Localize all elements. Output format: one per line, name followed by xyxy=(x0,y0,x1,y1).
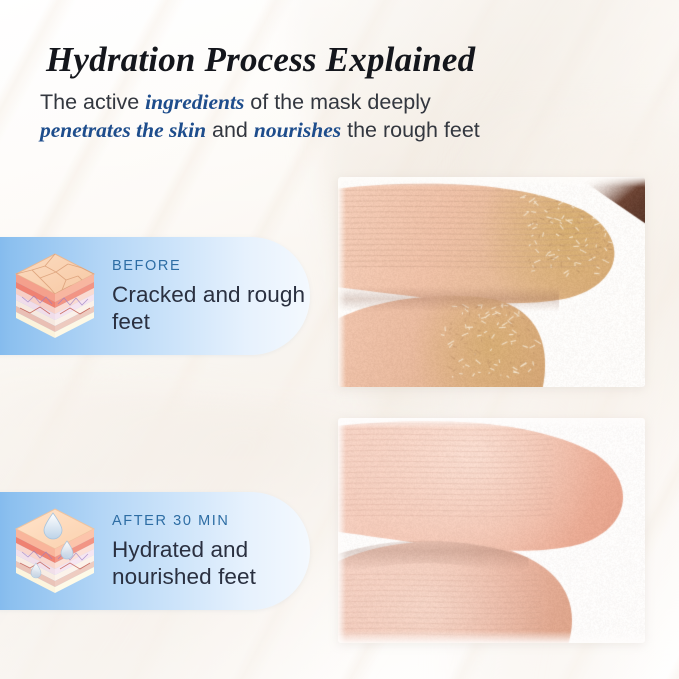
callout-after-text: AFTER 30 MIN Hydrated and nourished feet xyxy=(112,513,310,590)
skin-layers-cracked-icon xyxy=(12,250,98,342)
page-subtitle: The active ingredients of the mask deepl… xyxy=(40,88,560,144)
callout-before-kicker: BEFORE xyxy=(112,258,310,274)
callout-after: AFTER 30 MIN Hydrated and nourished feet xyxy=(0,492,310,610)
subtitle-line-2: penetrates the skin and nourishes the ro… xyxy=(40,116,560,144)
callout-before-title: Cracked and rough feet xyxy=(112,281,310,335)
page-title: Hydration Process Explained xyxy=(46,40,475,80)
callout-after-kicker: AFTER 30 MIN xyxy=(112,513,310,529)
subtitle-line-1: The active ingredients of the mask deepl… xyxy=(40,88,560,116)
callout-before: BEFORE Cracked and rough feet xyxy=(0,237,310,355)
before-photo xyxy=(338,177,645,387)
after-photo xyxy=(338,418,645,643)
skin-layers-hydrated-icon xyxy=(12,505,98,597)
infographic-page: Hydration Process Explained The active i… xyxy=(0,0,679,679)
callout-after-title: Hydrated and nourished feet xyxy=(112,536,310,590)
callout-before-text: BEFORE Cracked and rough feet xyxy=(112,258,310,335)
